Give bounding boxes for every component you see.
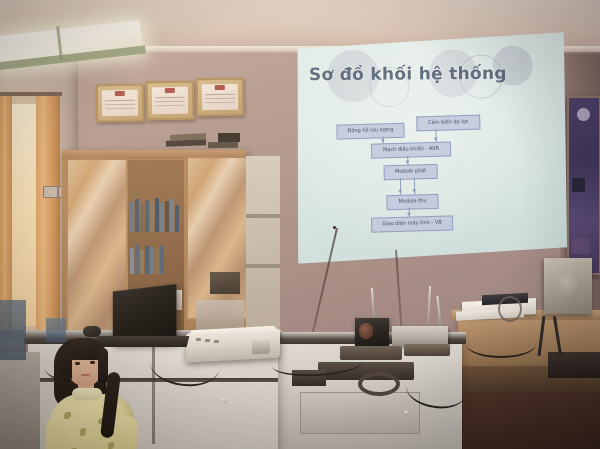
left-arm: [46, 416, 68, 449]
hair-side: [62, 348, 72, 382]
framed-certificate: [196, 78, 245, 117]
drawer-knob[interactable]: [222, 398, 227, 403]
shelf-edge: [246, 264, 280, 268]
book-on-top: [208, 142, 238, 149]
projection-screen: Sơ đồ khối hệ thống Đồng hồ lưu lượng Cả…: [292, 32, 570, 264]
curtain-left-panel: [0, 96, 12, 332]
diagram-arrow: [433, 138, 437, 141]
curtain-rod: [0, 92, 62, 96]
diagram-box-pressure-sensor: Cảm biến áp lực: [416, 115, 480, 132]
shelf-clutter: [196, 300, 244, 330]
projector-button[interactable]: [214, 340, 219, 343]
diagram-box-pc-interface: Giao diện máy tính - VB: [371, 215, 453, 232]
diagram-arrow: [398, 190, 402, 193]
shelf-edge: [246, 214, 280, 218]
diagram-arrow: [406, 213, 410, 216]
projector-lens: [252, 340, 270, 355]
framed-certificate: [96, 84, 145, 123]
framed-certificate: [146, 81, 195, 121]
circuit-parts: [404, 344, 450, 356]
diagram-box-rx-module: Module thu: [386, 194, 438, 210]
middle-desk-panel: [300, 392, 420, 434]
dark-box-on-shelf: [210, 272, 240, 294]
diagram-arrow: [405, 161, 409, 164]
photo-scene: Sơ đồ khối hệ thống Đồng hồ lưu lượng Cả…: [0, 0, 600, 449]
rf-box-dial: [359, 323, 373, 339]
poster-block: [572, 178, 585, 192]
poster-block: [572, 238, 590, 254]
drawer-knob[interactable]: [404, 410, 409, 415]
projector-button[interactable]: [205, 339, 210, 342]
side-table: [0, 352, 40, 449]
bookcase-glass-door-right[interactable]: [186, 156, 248, 320]
racket-shaped-object: [498, 296, 522, 322]
collar: [72, 388, 102, 400]
bookcase-side-panel: [246, 156, 280, 336]
diagram-box-tx-module: Module phát: [383, 164, 437, 181]
eye: [90, 361, 95, 364]
diagram-arrow: [412, 189, 416, 192]
rf-receiver-board: [392, 326, 448, 346]
slide-title: Sơ đồ khối hệ thống: [309, 64, 519, 85]
projector-button[interactable]: [196, 338, 201, 341]
bin: [46, 318, 66, 342]
presenter: [26, 166, 138, 342]
mouth: [81, 374, 90, 376]
diagram-box-controller: Mạch điều khiển - AVR: [371, 141, 451, 158]
cable: [466, 330, 536, 358]
object-on-top: [218, 133, 240, 142]
poster-moon-graphic: [577, 108, 590, 121]
chair[interactable]: [0, 300, 26, 360]
speaker-cone: [556, 272, 582, 300]
eye: [75, 362, 80, 365]
wire-coil: [358, 372, 400, 396]
right-cabinet: [548, 352, 600, 378]
diagram-box-flow-meter: Đồng hồ lưu lượng: [336, 123, 404, 140]
diagram-arrow: [380, 139, 384, 142]
